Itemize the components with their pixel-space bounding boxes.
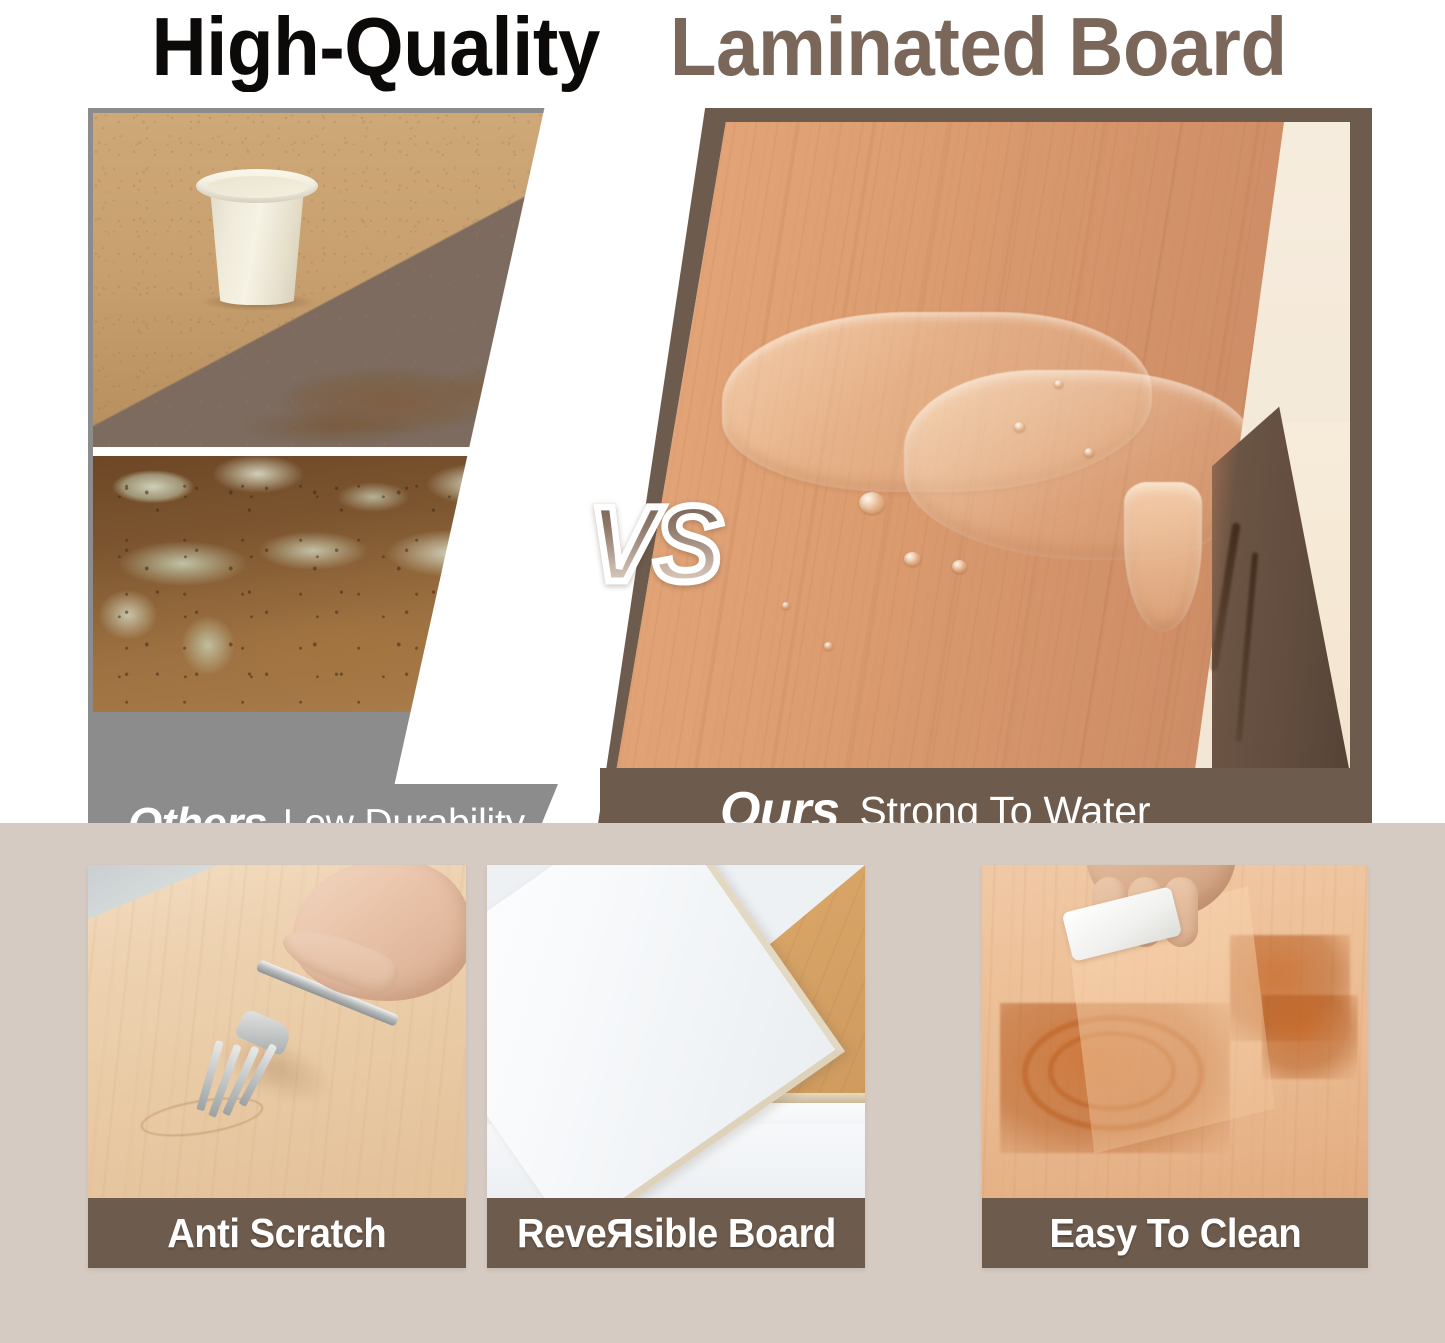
comparison-section: Others Low Durability Ours Strong To Wat…	[0, 92, 1445, 823]
sauce-stain	[1262, 995, 1358, 1079]
feature-caption-bar: ReveЯsible Board	[487, 1198, 865, 1268]
water-bead	[1014, 422, 1025, 432]
features-section: Anti Scratch ReveЯsible Board	[0, 823, 1445, 1343]
laminated-board-surface	[614, 122, 1284, 784]
paper-cup	[196, 157, 318, 305]
vs-badge: VS	[588, 490, 719, 598]
ours-photo-water-test	[614, 122, 1350, 784]
water-bead	[952, 560, 967, 573]
feature-image-anti-scratch	[88, 865, 466, 1198]
ours-claim: Strong To Water	[859, 788, 1150, 824]
page-title: High-Quality Laminated Board	[0, 0, 1445, 92]
feature-label: Easy To Clean	[1049, 1210, 1301, 1257]
title-part-highlight: High-Quality	[151, 5, 599, 88]
water-bead	[904, 552, 921, 566]
water-bead	[859, 492, 885, 514]
feature-label: Anti Scratch	[167, 1210, 386, 1257]
feature-caption-bar: Easy To Clean	[982, 1198, 1368, 1268]
water-bead	[824, 642, 833, 650]
water-bead	[782, 602, 790, 609]
ours-panel	[592, 108, 1372, 823]
feature-card-easy-to-clean: Easy To Clean	[982, 865, 1368, 1268]
ours-label: Ours	[720, 781, 839, 823]
feature-card-anti-scratch: Anti Scratch	[88, 865, 466, 1268]
feature-caption-bar: Anti Scratch	[88, 1198, 466, 1268]
feature-image-easy-to-clean	[982, 865, 1368, 1198]
others-caption-bar: Others Low Durability	[88, 784, 558, 823]
title-part-product: Laminated Board	[670, 5, 1287, 88]
feature-card-reversible-board: ReveЯsible Board	[487, 865, 865, 1268]
feature-image-reversible	[487, 865, 865, 1198]
feature-label: ReveЯsible Board	[517, 1210, 836, 1257]
others-label: Others	[128, 799, 267, 823]
ours-caption-bar: Ours Strong To Water	[600, 768, 1372, 823]
others-claim: Low Durability	[283, 802, 525, 823]
coffee-spill-edge	[223, 405, 473, 447]
water-bead	[1054, 380, 1063, 388]
water-bead	[1084, 448, 1094, 457]
cup-interior	[207, 176, 307, 198]
